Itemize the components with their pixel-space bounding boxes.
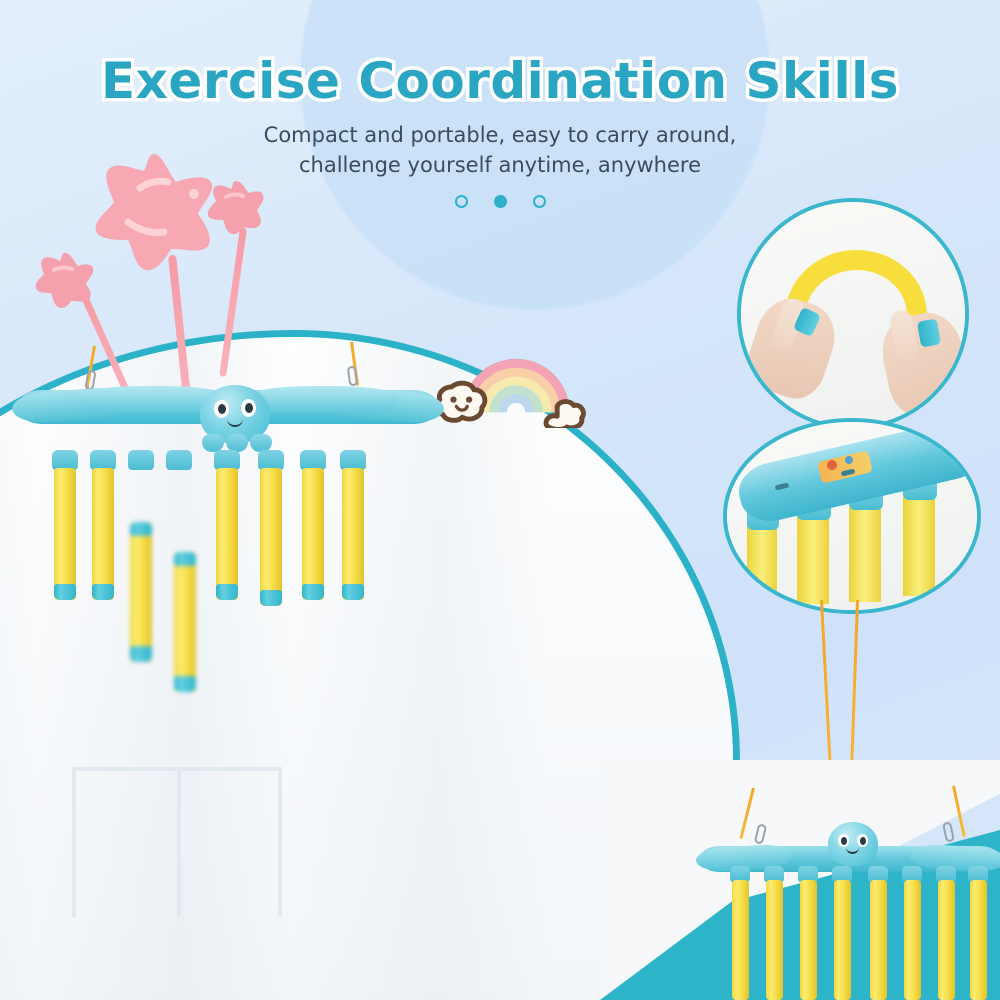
product-clip-right	[942, 821, 955, 842]
stick-cap	[302, 584, 324, 600]
stick-socket-5	[214, 450, 240, 470]
stick-socket-2	[90, 450, 116, 470]
cloud-eye-right	[466, 397, 472, 403]
main-hanging-toy	[18, 352, 438, 652]
product-stick-6	[904, 880, 921, 1000]
inset-bar-closeup	[723, 418, 981, 614]
rainbow-cloud-decoration	[430, 338, 610, 428]
carousel-dot-2[interactable]	[494, 195, 507, 208]
stick-cap	[174, 552, 196, 566]
product-octopus-head	[828, 822, 878, 866]
product-stick-5	[870, 880, 887, 1000]
product-clip-left	[754, 823, 768, 845]
stick-cap	[260, 590, 282, 606]
inset-bending-stick	[737, 198, 969, 430]
stick-5	[216, 468, 238, 600]
stick-cap	[174, 676, 196, 692]
product-stick-2	[766, 880, 783, 1000]
bar-hump-right	[248, 386, 398, 412]
stick-7	[302, 468, 324, 600]
stick-6	[260, 468, 282, 606]
stick-2	[92, 468, 114, 600]
carousel-dot-1[interactable]	[455, 195, 468, 208]
octopus-pupil-right	[245, 403, 253, 413]
stick-socket-6	[258, 450, 284, 470]
product-stick-8	[970, 880, 987, 1000]
marketing-banner: Exercise Coordination Skills Compact and…	[0, 0, 1000, 1000]
star-large-icon	[90, 148, 220, 276]
product-stick-7	[938, 880, 955, 1000]
product-full-view	[700, 800, 1000, 1000]
product-octopus-pupil-left	[841, 837, 847, 845]
product-stick-1	[732, 880, 749, 1000]
window-frame	[72, 767, 282, 917]
stick-cap	[92, 584, 114, 600]
product-stick-4	[834, 880, 851, 1000]
octopus-pupil-left	[218, 404, 226, 414]
carousel-dot-3[interactable]	[533, 195, 546, 208]
product-stick-3	[800, 880, 817, 1000]
stick-cap	[130, 522, 152, 536]
subtitle-line-1: Compact and portable, easy to carry arou…	[0, 120, 1000, 150]
star-small-right-icon	[206, 178, 266, 236]
cloud-eye-left	[450, 397, 456, 403]
star-small-left-icon	[34, 250, 96, 310]
octopus-bar	[18, 382, 438, 430]
page-title: Exercise Coordination Skills	[0, 52, 1000, 110]
stick-cap-right	[917, 318, 941, 347]
stick-cap	[342, 584, 364, 600]
product-octopus-pupil-right	[860, 837, 866, 845]
stick-socket-4	[166, 450, 192, 470]
stick-cap	[216, 584, 238, 600]
stick-1	[54, 468, 76, 600]
cloud-left-icon	[436, 383, 485, 420]
stick-socket-1	[52, 450, 78, 470]
stick-8	[342, 468, 364, 600]
stick-cap	[130, 646, 152, 662]
stick-socket-3	[128, 450, 154, 470]
stick-socket-8	[340, 450, 366, 470]
stick-falling-2	[174, 552, 196, 692]
stick-falling-1	[130, 522, 152, 662]
stick-socket-7	[300, 450, 326, 470]
stick-cap	[54, 584, 76, 600]
